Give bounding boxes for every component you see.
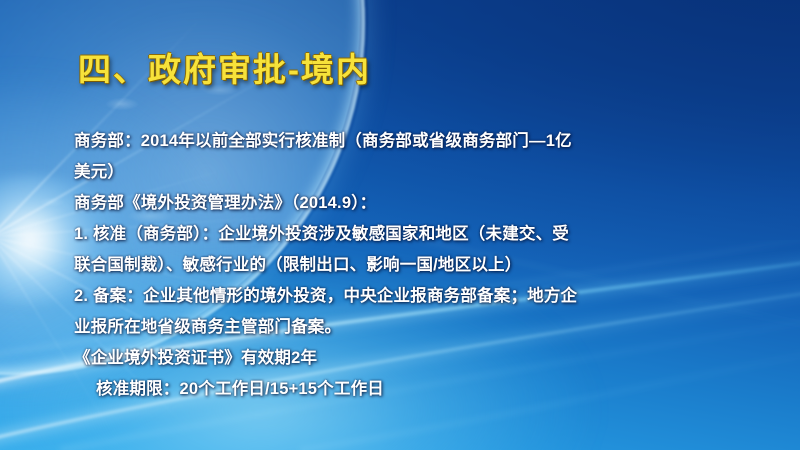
slide-body: 商务部：2014年以前全部实行核准制（商务部或省级商务部门—1亿 美元） 商务部… <box>74 126 634 405</box>
body-line: 核准期限：20个工作日/15+15个工作日 <box>74 374 634 405</box>
body-line: 商务部《境外投资管理办法》（2014.9）： <box>74 188 634 219</box>
body-line: 2. 备案：企业其他情形的境外投资，中央企业报商务部备案；地方企 <box>74 281 634 312</box>
body-line: 联合国制裁）、敏感行业的（限制出口、影响一国/地区以上） <box>74 250 634 281</box>
body-line: 业报所在地省级商务主管部门备案。 <box>74 312 634 343</box>
slide-title: 四、政府审批-境内 <box>78 43 371 91</box>
body-line: 1. 核准（商务部）：企业境外投资涉及敏感国家和地区（未建交、受 <box>74 219 634 250</box>
body-line: 商务部：2014年以前全部实行核准制（商务部或省级商务部门—1亿 <box>74 126 634 157</box>
body-line: 美元） <box>74 157 634 188</box>
presentation-slide: 四、政府审批-境内 商务部：2014年以前全部实行核准制（商务部或省级商务部门—… <box>0 0 800 450</box>
slide-content: 四、政府审批-境内 商务部：2014年以前全部实行核准制（商务部或省级商务部门—… <box>0 0 800 450</box>
body-line: 《企业境外投资证书》有效期2年 <box>74 343 634 374</box>
